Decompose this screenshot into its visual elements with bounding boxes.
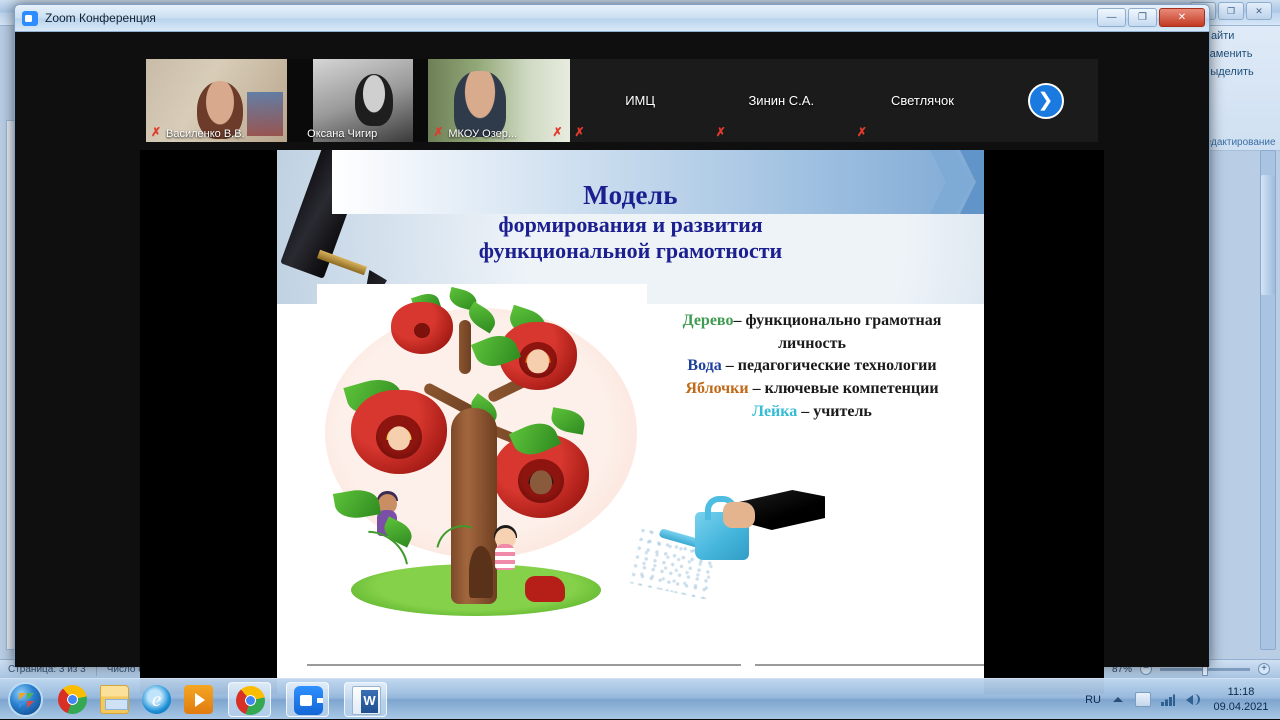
presentation-slide: Модель формирования и развития функциона… xyxy=(277,150,984,694)
participant-tile-zinin[interactable]: Зинин С.А. ✗ xyxy=(711,59,852,142)
slide-footer-rule xyxy=(755,664,984,666)
legend-definition: учитель xyxy=(813,403,872,420)
taskbar-window-chrome[interactable] xyxy=(228,682,271,717)
child-face xyxy=(388,426,410,450)
zoom-titlebar: Zoom Конференция — ❐ ✕ xyxy=(15,5,1209,32)
legend-item-wateringcan: Лейка – учитель xyxy=(647,401,977,424)
slide-title: Модель формирования и развития функциона… xyxy=(277,180,984,264)
internet-explorer-icon[interactable] xyxy=(142,685,171,714)
word-maximize-button[interactable]: ❐ xyxy=(1218,2,1244,20)
legend-term: Дерево xyxy=(683,312,734,329)
media-player-icon[interactable] xyxy=(184,685,213,714)
participant-name: Василенко В.В. xyxy=(146,128,287,140)
start-button-icon[interactable] xyxy=(8,682,43,717)
watering-can-illustration xyxy=(677,484,827,584)
zoom-slider[interactable] xyxy=(1160,668,1250,671)
zoom-window-controls[interactable]: — ❐ ✕ xyxy=(1097,8,1205,27)
child-face xyxy=(530,470,552,494)
clock-time: 11:18 xyxy=(1210,685,1272,700)
zoom-app-icon xyxy=(22,11,38,26)
slide-footer-rule xyxy=(307,664,741,666)
muted-mic-icon: ✗ xyxy=(857,126,868,139)
muted-mic-icon: ✗ xyxy=(553,126,564,139)
network-icon[interactable] xyxy=(1160,692,1176,707)
participant-tile-mkou[interactable]: ✗ МКОУ Озер... ✗ xyxy=(428,59,569,142)
taskbar-window-zoom[interactable] xyxy=(286,682,329,717)
legend-item-water: Вода – педагогические технологии xyxy=(647,355,977,378)
slide-title-line-1: Модель xyxy=(277,180,984,212)
apple-icon xyxy=(391,302,453,354)
clock[interactable]: 11:18 09.04.2021 xyxy=(1210,685,1272,715)
participant-tile-vasilenko[interactable]: ✗ Василенко В.В. xyxy=(146,59,287,142)
zoom-content-area: ✗ Василенко В.В. Оксана Чигир ✗ МКОУ Озе… xyxy=(15,32,1209,667)
muted-mic-icon: ✗ xyxy=(575,126,586,139)
legend-definition: педагогические технологии xyxy=(738,357,937,374)
slide-title-line-2: формирования и развития xyxy=(277,212,984,238)
apple-with-child xyxy=(351,390,447,474)
apple-hole xyxy=(519,342,556,377)
word-scrollbar-thumb[interactable] xyxy=(1261,175,1275,295)
participant-name: МКОУ Озер... xyxy=(428,128,569,140)
participant-name: Оксана Чигир xyxy=(287,128,428,140)
volume-icon[interactable] xyxy=(1185,692,1201,707)
action-center-icon[interactable] xyxy=(1135,692,1151,707)
taskbar-window-word[interactable] xyxy=(344,682,387,717)
apple-hole xyxy=(518,459,564,503)
chrome-icon xyxy=(236,686,265,715)
legend-term: Яблочки xyxy=(685,380,748,397)
participant-tile-chigir[interactable]: Оксана Чигир xyxy=(287,59,428,142)
word-close-button[interactable]: ✕ xyxy=(1246,2,1272,20)
legend-term: Лейка xyxy=(752,403,797,420)
shared-screen-area: Модель формирования и развития функциона… xyxy=(140,150,1104,694)
chevron-right-icon[interactable]: ❯ xyxy=(1028,83,1064,119)
slide-title-line-3: функциональной грамотности xyxy=(277,238,984,264)
zoom-maximize-button[interactable]: ❐ xyxy=(1128,8,1157,27)
apple-hole xyxy=(414,323,430,339)
muted-mic-icon: ✗ xyxy=(716,126,727,139)
zoom-in-button[interactable]: + xyxy=(1258,663,1270,675)
participant-tile-svetlyachok[interactable]: Светлячок ✗ xyxy=(852,59,993,142)
system-tray: RU 11:18 09.04.2021 xyxy=(1085,679,1272,720)
legend-item-apples: Яблочки – ключевые компетенции xyxy=(647,378,977,401)
participant-name: ИМЦ xyxy=(625,93,655,108)
apple-hole xyxy=(376,415,422,459)
hand xyxy=(723,502,755,528)
zoom-close-button[interactable]: ✕ xyxy=(1159,8,1205,27)
participant-name: Светлячок xyxy=(891,93,954,108)
participant-name: Зинин С.А. xyxy=(748,93,814,108)
tree-branch xyxy=(459,320,471,374)
child-face xyxy=(527,349,549,373)
legend-definition: ключевые компетенции xyxy=(765,380,939,397)
filmstrip-next-page[interactable]: ❯ xyxy=(993,59,1098,142)
chrome-icon[interactable] xyxy=(58,685,87,714)
show-hidden-icons-icon[interactable] xyxy=(1110,692,1126,707)
legend-separator: – xyxy=(797,403,813,420)
legend-separator: – xyxy=(733,312,745,329)
slide-legend: Дерево– функционально грамотная личность… xyxy=(647,310,977,424)
zoom-icon xyxy=(294,686,323,715)
legend-separator: – xyxy=(722,357,738,374)
legend-definition: функционально грамотная личность xyxy=(745,312,941,352)
participant-filmstrip: ✗ Василенко В.В. Оксана Чигир ✗ МКОУ Озе… xyxy=(146,59,1098,142)
legend-term: Вода xyxy=(687,357,721,374)
zoom-minimize-button[interactable]: — xyxy=(1097,8,1126,27)
language-indicator[interactable]: RU xyxy=(1085,694,1101,706)
legend-item-tree: Дерево– функционально грамотная личность xyxy=(647,310,977,355)
file-explorer-icon[interactable] xyxy=(100,685,129,714)
word-icon xyxy=(352,686,381,715)
zoom-window-title: Zoom Конференция xyxy=(45,11,156,25)
clock-date: 09.04.2021 xyxy=(1210,700,1272,715)
windows-taskbar: RU 11:18 09.04.2021 xyxy=(0,678,1280,719)
apple-tree-illustration xyxy=(317,284,647,646)
zoom-meeting-window: Zoom Конференция — ❐ ✕ ✗ Василенко В.В. … xyxy=(14,4,1210,666)
participant-tile-imc[interactable]: ИМЦ ✗ xyxy=(570,59,711,142)
fallen-apple xyxy=(525,576,565,602)
legend-separator: – xyxy=(749,380,765,397)
